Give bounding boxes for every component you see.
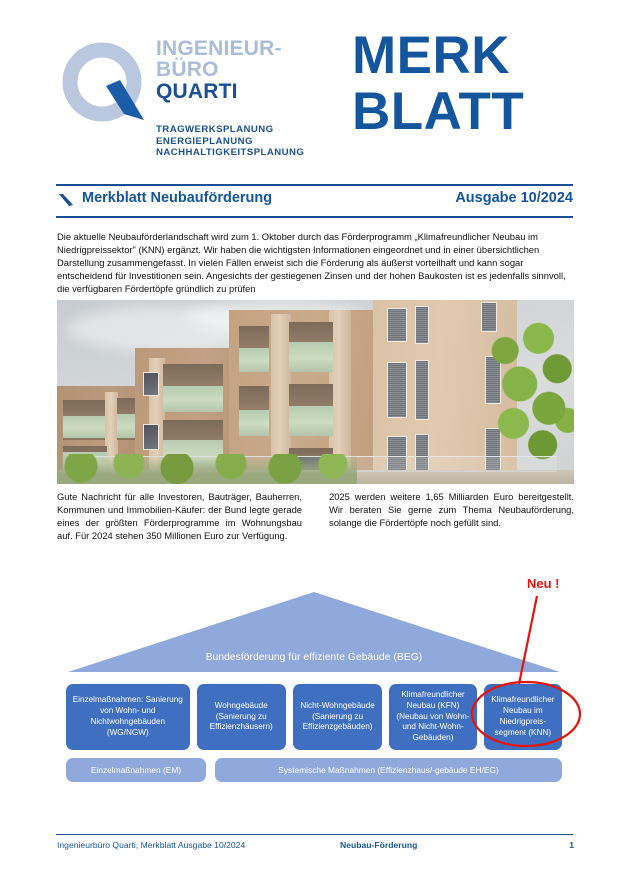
two-column-text: Gute Nachricht für alle Investoren, Baut… — [57, 491, 574, 543]
diagram-box-knn[interactable]: Klimafreundlicher Neubau im Niedrigpreis… — [484, 684, 562, 750]
page-title: Merkblatt Neubauförderung — [82, 190, 272, 206]
diagram-box-nicht-wohngebaeude[interactable]: Nicht-Wohngebäude (Sanierung zu Effizien… — [293, 684, 382, 750]
document-footer: Ingenieurbüro Quarti, Merkblatt Ausgabe … — [57, 840, 574, 854]
title-rule-bottom — [56, 216, 573, 218]
tagline-line-3: NACHHALTIGKEITSPLANUNG — [156, 147, 366, 159]
new-badge-label: Neu ! — [527, 576, 560, 591]
photo-balcony-glass — [239, 348, 269, 372]
footer-topic: Neubau-Förderung — [340, 840, 417, 850]
photo-shutter — [415, 360, 429, 420]
photo-balcony-glass — [63, 416, 107, 438]
issue-label: Ausgabe 10/2024 — [455, 190, 573, 206]
photo-balcony-glass — [289, 342, 333, 372]
photo-window — [143, 372, 159, 396]
quarti-q-logo-icon — [62, 42, 148, 128]
photo-balcony-glass — [289, 406, 333, 436]
diagram-bar-em[interactable]: Einzelmaßnahmen (EM) — [66, 758, 206, 782]
footer-rule — [56, 834, 573, 835]
pen-nib-icon — [58, 193, 74, 207]
photo-balcony-glass — [163, 386, 223, 412]
photo-shutter — [387, 362, 407, 418]
tagline-line-1: TRAGWERKSPLANUNG — [156, 124, 366, 136]
column-right: 2025 werden weitere 1,65 Milliarden Euro… — [329, 491, 574, 543]
roof-label: Bundesförderung für effiziente Gebäude (… — [68, 652, 560, 663]
logo-wordmark: INGENIEUR- BÜRO QUARTI — [156, 38, 356, 103]
merkblatt-wordmark: MERK BLATT — [352, 28, 582, 140]
diagram-box-kfn[interactable]: Klimafreundlicher Neubau (KFN) (Neubau v… — [389, 684, 477, 750]
document-header: INGENIEUR- BÜRO QUARTI TRAGWERKSPLANUNG … — [0, 0, 628, 178]
column-left: Gute Nachricht für alle Investoren, Baut… — [57, 491, 302, 543]
title-rule-top — [56, 184, 573, 186]
logo-line-3: QUARTI — [156, 80, 356, 103]
logo-line-2: BÜRO — [156, 59, 356, 80]
photo-tree — [474, 314, 574, 466]
diagram-bar-row: Einzelmaßnahmen (EM) Systemische Maßnahm… — [66, 758, 562, 782]
photo-window — [143, 424, 159, 450]
photo-shutter — [387, 308, 407, 342]
diagram-bar-systemisch[interactable]: Systemische Maßnahmen (Effizienzhaus/-ge… — [215, 758, 562, 782]
wordmark-line-1: MERK — [352, 28, 582, 84]
diagram-roof: Bundesförderung für effiziente Gebäude (… — [68, 592, 560, 678]
footer-source: Ingenieurbüro Quarti, Merkblatt Ausgabe … — [57, 840, 245, 850]
photo-shutter — [415, 306, 429, 344]
diagram-box-wohngebaeude[interactable]: Wohngebäude (Sanierung zu Effizienzhäuse… — [197, 684, 286, 750]
building-photo — [57, 300, 574, 484]
wordmark-line-2: BLATT — [352, 84, 582, 140]
logo-tagline: TRAGWERKSPLANUNG ENERGIEPLANUNG NACHHALT… — [156, 124, 366, 159]
title-bar: Merkblatt Neubauförderung Ausgabe 10/202… — [56, 189, 573, 215]
footer-page-number: 1 — [569, 840, 574, 850]
document-page: INGENIEUR- BÜRO QUARTI TRAGWERKSPLANUNG … — [0, 0, 628, 875]
intro-paragraph: Die aktuelle Neubauförderlandschaft wird… — [57, 231, 573, 296]
company-logo: INGENIEUR- BÜRO QUARTI TRAGWERKSPLANUNG … — [62, 30, 352, 170]
beg-structure-diagram: Bundesförderung für effiziente Gebäude (… — [40, 572, 588, 807]
diagram-box-einzelmassnahmen[interactable]: Einzelmaßnahmen: Sanierung von Wohn- und… — [66, 684, 190, 750]
diagram-box-row: Einzelmaßnahmen: Sanierung von Wohn- und… — [66, 684, 562, 750]
photo-balcony-glass — [117, 414, 137, 438]
photo-balcony-glass — [239, 410, 269, 436]
tagline-line-2: ENERGIEPLANUNG — [156, 136, 366, 148]
photo-hedge — [57, 454, 357, 484]
logo-line-1: INGENIEUR- — [156, 38, 356, 59]
